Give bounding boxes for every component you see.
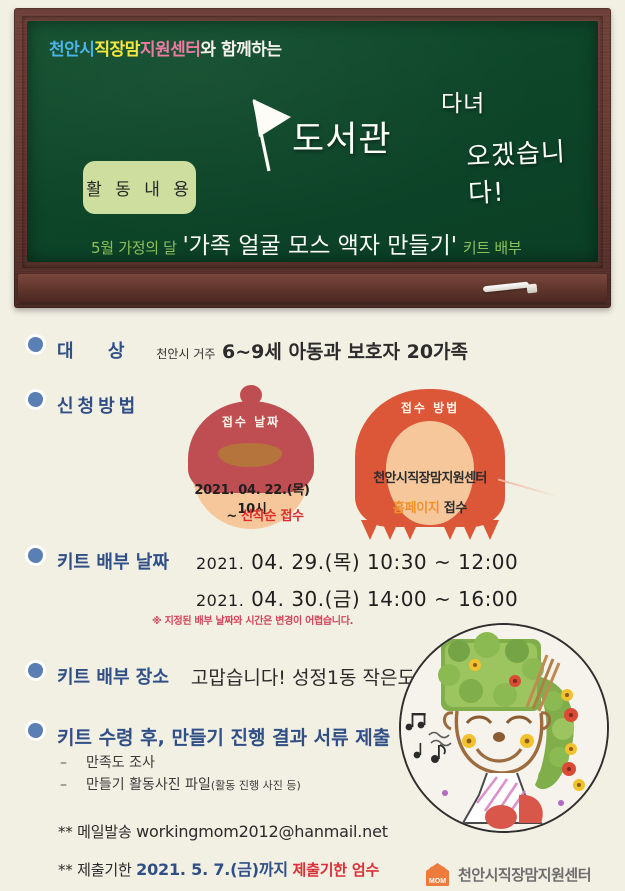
activity-badge-label: 활 동 내 용 xyxy=(86,175,193,200)
hair-strand xyxy=(441,520,459,540)
center-logo: MOM 천안시직장맘지원센터 xyxy=(424,862,591,887)
accept-label: 접수 xyxy=(440,501,468,516)
footer-mail-line: ** 메일발송 workingmom2012@hanmail.net xyxy=(58,821,388,842)
footer-mail-address[interactable]: workingmom2012@hanmail.net xyxy=(136,822,388,841)
subtitle-highlight: 가족 얼굴 모스 액자 만들기 xyxy=(189,233,451,259)
moss-face-illustration xyxy=(401,625,607,831)
submit-item-2-tail: (활동 진행 사진 등) xyxy=(211,779,301,792)
tilde-mark: ~ xyxy=(226,509,237,524)
first-come-label: 선착순 접수 xyxy=(241,509,304,524)
footer-due-line: ** 제출기한 2021. 5. 7.(금)까지 제출기한 엄수 xyxy=(58,856,379,880)
row-apply-method: 신청방법 xyxy=(28,392,139,418)
chalk-nub-icon xyxy=(527,284,538,294)
header-part-workingmom: 직장맘 xyxy=(94,40,139,60)
title-ending: 오겠습니다! xyxy=(465,130,598,211)
subtitle-prefix: 5월 가정의 달 xyxy=(91,239,177,257)
row-kit-date-label: 키트 배부 날짜 xyxy=(57,548,169,574)
row-kit-distribution-date: 키트 배부 날짜 xyxy=(28,548,169,574)
header-part-city: 천안시 xyxy=(49,40,94,60)
footer-due-date: 2021. 5. 7.(금)까지 xyxy=(136,860,288,879)
svg-text:MOM: MOM xyxy=(429,878,446,885)
dash-icon: – xyxy=(60,774,86,796)
title-main: 도서관 xyxy=(292,111,392,162)
footer-due-warning: 제출기한 엄수 xyxy=(293,861,380,879)
subtitle-line: 5월 가정의 달 '가족 얼굴 모스 액자 만들기' 키트 배부 xyxy=(91,226,521,260)
reception-date-face-graphic: 접수 날짜 2021. 04. 22.(목) 10시 ~ 선착순 접수 xyxy=(186,385,316,530)
footer-mail-prefix: ** 메일발송 xyxy=(58,823,132,841)
hair-strand xyxy=(461,520,479,540)
reception-order-note: ~ 선착순 접수 xyxy=(214,505,316,524)
chalkboard: 천안시직장맘지원센터와 함께하는 다녀 도서관 오겠습니다! 활 동 내 용 5… xyxy=(14,8,611,308)
kit-date-line-1: 2021. 04. 29.(목) 10:30 ~ 12:00 xyxy=(196,546,518,575)
row-target-value-prefix: 천안시 거주 xyxy=(156,347,215,361)
bullet-icon xyxy=(28,337,43,352)
bullet-icon xyxy=(28,663,43,678)
bullet-icon xyxy=(28,548,43,563)
submit-item-1: 만족도 조사 xyxy=(86,755,155,771)
bullet-icon xyxy=(28,392,43,407)
kit-date-2-rest: 04. 30.(금) 14:00 ~ 16:00 xyxy=(251,587,518,611)
reception-method-title: 접수 방법 xyxy=(355,399,505,416)
header-part-suffix: 와 함께하는 xyxy=(200,40,281,60)
cap-knob-icon xyxy=(240,385,262,405)
moss-craft-photo xyxy=(399,623,609,833)
subtitle-suffix: 키트 배부 xyxy=(463,239,521,257)
kit-date-warning-note: ※ 지정된 배부 날짜와 시간은 변경이 어렵습니다. xyxy=(152,612,353,627)
row-target-label: 대 상 xyxy=(57,337,138,363)
row-kit-distribution-place: 키트 배부 장소 고맙습니다! 성정1동 작은도서관 xyxy=(28,663,450,690)
kit-date-1-year: 2021. xyxy=(196,554,244,573)
hair-strand xyxy=(481,520,499,540)
row-target-value: 6~9세 아동과 보호자 20가족 xyxy=(222,341,468,363)
activity-badge: 활 동 내 용 xyxy=(83,161,196,214)
dash-icon: – xyxy=(60,752,86,774)
row-target-audience: 대 상 천안시 거주 6~9세 아동과 보호자 20가족 xyxy=(28,337,468,364)
submit-item-2: 만들기 활동사진 파일 xyxy=(86,777,211,793)
footer-due-prefix: ** 제출기한 xyxy=(58,861,132,879)
homepage-label: 홈페이지 xyxy=(393,501,440,516)
cap-brim xyxy=(218,443,282,467)
kit-date-2-year: 2021. xyxy=(196,591,244,610)
chalkboard-surface: 천안시직장맘지원센터와 함께하는 다녀 도서관 오겠습니다! 활 동 내 용 5… xyxy=(27,21,598,262)
reception-date-title: 접수 날짜 xyxy=(186,413,316,430)
reception-center-name: 천안시직장맘지원센터 xyxy=(349,467,511,486)
row-submit-documents: 키트 수령 후, 만들기 진행 결과 서류 제출 xyxy=(28,723,390,750)
mom-house-icon: MOM xyxy=(424,862,451,887)
board-header-line: 천안시직장맘지원센터와 함께하는 xyxy=(49,35,282,60)
center-logo-name: 천안시직장맘지원센터 xyxy=(458,864,591,885)
hair-strand xyxy=(381,520,399,540)
row-apply-label: 신청방법 xyxy=(57,392,139,418)
white-flag-icon xyxy=(249,93,295,179)
list-item: –만들기 활동사진 파일(활동 진행 사진 등) xyxy=(60,774,301,797)
submit-item-list: –만족도 조사 –만들기 활동사진 파일(활동 진행 사진 등) xyxy=(60,752,301,797)
hair-strand xyxy=(361,520,379,540)
kit-date-line-2: 2021. 04. 30.(금) 14:00 ~ 16:00 xyxy=(196,583,518,612)
row-submit-label: 키트 수령 후, 만들기 진행 결과 서류 제출 xyxy=(57,723,390,750)
kit-date-1-rest: 04. 29.(목) 10:30 ~ 12:00 xyxy=(251,550,518,574)
reception-method-face-graphic: 접수 방법 천안시직장맘지원센터 홈페이지 접수 xyxy=(355,383,505,533)
row-place-label: 키트 배부 장소 xyxy=(57,663,169,689)
title-upper: 다녀 xyxy=(441,84,485,118)
hair-wisp xyxy=(498,478,558,497)
poster-root: 천안시직장맘지원센터와 함께하는 다녀 도서관 오겠습니다! 활 동 내 용 5… xyxy=(0,0,625,891)
reception-channel: 홈페이지 접수 xyxy=(355,497,505,516)
subtitle-quote-close: ' xyxy=(451,233,457,259)
list-item: –만족도 조사 xyxy=(60,752,301,774)
header-part-center: 지원센터 xyxy=(140,40,201,60)
bullet-icon xyxy=(28,723,43,738)
